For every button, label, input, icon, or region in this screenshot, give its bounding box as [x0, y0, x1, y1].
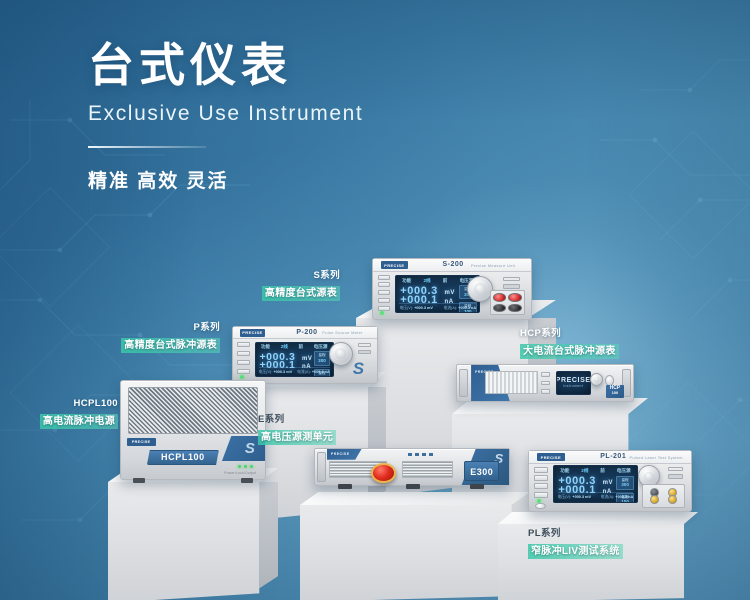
callout-s-series-desc: 高精度台式源表	[262, 286, 340, 301]
tab-front: 前	[443, 278, 448, 284]
tab-voltage-source: 电压源	[314, 344, 328, 350]
pl-series-power-button[interactable]	[535, 503, 546, 510]
hcp-rotary-knob[interactable]	[590, 373, 603, 386]
instrument-p-series[interactable]: PRECISE P-200 Pulse Source Meter 功能 2线 前…	[232, 326, 378, 384]
callout-hcpl100-title: HCPL100	[0, 398, 118, 411]
callout-p-series: P系列 高精度台式脉冲源表	[80, 322, 220, 353]
hcp-side-buttons[interactable]	[541, 372, 550, 394]
s-series-brand-tag: PRECISE	[381, 261, 408, 269]
hcpl100-mesh-grille	[128, 387, 258, 434]
p-series-display[interactable]: 功能 2线 前 电压源 +000.3 mV +000.1 nA 量程 300	[255, 342, 334, 378]
hcp-display-brand: PRECISE	[556, 377, 591, 384]
e300-brand-tag: PRECISE	[329, 451, 352, 457]
p-series-brand-tag: PRECISE	[240, 329, 264, 336]
pl-series-model-subtitle: Pulsed Laser Test System	[629, 455, 682, 460]
tab-function: 功能	[560, 468, 569, 474]
bnc-connector-3[interactable]	[650, 495, 659, 504]
range-chip-voltage: 量程 300	[314, 351, 331, 365]
callout-pl-series-desc: 窄脉冲LIV测试系统	[528, 544, 623, 559]
terminal-black-hi[interactable]	[493, 304, 506, 313]
e300-status-leds	[408, 453, 433, 456]
banner-subtitle: Exclusive Use Instrument	[88, 102, 363, 126]
callout-hcp-series: HCP系列 大电流台式脉冲源表	[520, 328, 648, 359]
instrument-s-series[interactable]: PRECISE S-200 Precise Measure Unit 功能 2线…	[372, 258, 532, 320]
tab-front: 前	[600, 468, 605, 474]
tab-function: 功能	[261, 344, 270, 350]
p-series-display-footer: 电压(V): +000.3 mV 电流(A): +000.3 nA	[259, 367, 330, 375]
terminal-red-lo[interactable]	[508, 293, 521, 302]
hcpl100-logo: S	[245, 440, 255, 457]
callout-hcp-series-title: HCP系列	[520, 328, 648, 341]
e300-foot-1	[338, 484, 352, 489]
instrument-e-series[interactable]: PRECISE S E300	[314, 448, 510, 486]
callout-s-series-title: S系列	[200, 270, 340, 283]
e300-emergency-button[interactable]	[371, 463, 396, 483]
banner-title: 台式仪表	[88, 40, 363, 92]
range-chip-voltage: 量程 300	[616, 476, 634, 490]
s-series-model-text: S-200	[443, 261, 464, 268]
callout-pl-series: PL系列 窄脉冲LIV测试系统	[528, 528, 658, 559]
callout-pl-series-title: PL系列	[528, 528, 658, 541]
instrument-pl-series[interactable]: PRECISE PL-201 Pulsed Laser Test System …	[528, 450, 692, 512]
e300-foot-2	[406, 484, 420, 489]
p-series-logo: S	[353, 359, 364, 379]
header-divider	[88, 146, 206, 148]
s-series-usb-port[interactable]	[503, 277, 520, 281]
hcp-display-subtitle: Instrument	[563, 384, 583, 388]
tab-wire: 2线	[581, 468, 588, 474]
callout-p-series-title: P系列	[80, 322, 220, 335]
tab-wire: 2线	[424, 278, 431, 284]
instrument-hcp-series[interactable]: PRECISE PRECISE Instrument HCP100	[456, 364, 634, 402]
p-series-aux-port[interactable]	[358, 350, 371, 354]
pl-series-brand-tag: PRECISE	[537, 453, 565, 461]
p-series-side-buttons[interactable]	[237, 342, 250, 374]
hcp-rack-ear-left	[459, 369, 468, 398]
pl-series-display[interactable]: 功能 2线 前 电压源 +000.3 mV +000.1 nA 量程 300	[553, 465, 637, 502]
e300-model-plate: E300	[464, 461, 499, 481]
callout-e-series: E系列 高电压源测单元	[258, 414, 370, 445]
pl-series-model-text: PL-201	[600, 453, 626, 460]
s-series-terminal-panel[interactable]	[490, 290, 525, 315]
hcpl100-indicator-leds	[238, 465, 253, 468]
tab-function: 功能	[402, 278, 411, 284]
hcp-display[interactable]: PRECISE Instrument	[556, 371, 591, 395]
banner-tagline: 精准 高效 灵活	[88, 166, 363, 193]
pl-series-side-buttons[interactable]	[534, 467, 549, 498]
e300-foot-3	[470, 484, 484, 489]
callout-hcpl100-desc: 高电流脉冲电源	[40, 414, 118, 429]
tab-wire: 2线	[281, 344, 288, 350]
pedestal-e-series	[300, 492, 530, 600]
banner-stage: 台式仪表 Exclusive Use Instrument 精准 高效 灵活	[0, 0, 750, 600]
pl-series-aux-port[interactable]	[668, 474, 683, 479]
hcpl100-brand-tag: PRECISE	[127, 438, 156, 446]
hcp-model-badge: HCP100	[606, 385, 625, 399]
hcpl100-model-plate: HCPL100	[147, 450, 219, 466]
callout-e-series-title: E系列	[258, 414, 370, 427]
p-series-power-led	[240, 375, 244, 379]
tab-front: 前	[298, 344, 303, 350]
terminal-red-hi[interactable]	[493, 293, 506, 302]
banner-header: 台式仪表 Exclusive Use Instrument 精准 高效 灵活	[88, 40, 363, 193]
e300-vent-right	[402, 461, 452, 478]
s-series-display-footer: 电压(V): +000.3 mV 电流(A): +000.3 nA	[399, 303, 476, 311]
instrument-hcpl100[interactable]: PRECISE S HCPL100 Power/Lock/Output	[120, 380, 266, 480]
callout-s-series: S系列 高精度台式源表	[200, 270, 340, 301]
terminal-black-lo[interactable]	[508, 304, 521, 313]
pl-series-display-footer: 电压(V): +000.3 mV 电流(A): +000.3 nA	[558, 492, 634, 500]
hcpl100-foot-left	[133, 478, 146, 483]
p-series-model-subtitle: Pulse Source Meter	[322, 330, 363, 335]
pl-series-display-tabs: 功能 2线 前 电压源	[554, 468, 636, 475]
tab-voltage-source: 电压源	[617, 468, 631, 474]
p-series-rotary-knob[interactable]	[329, 342, 353, 366]
s-series-side-buttons[interactable]	[378, 275, 391, 311]
e300-rack-ear-left	[317, 452, 326, 482]
hcpl100-model-text: HCPL100	[161, 452, 205, 462]
callout-e-series-desc: 高电压源测单元	[258, 430, 336, 445]
s-series-aux-port[interactable]	[503, 284, 520, 289]
s-series-power-led	[380, 311, 384, 315]
s-series-model-subtitle: Precise Measure Unit	[471, 263, 515, 268]
hcpl100-foot-right	[241, 478, 254, 483]
e300-model-text: E300	[470, 467, 493, 477]
p-series-display-tabs: 功能 2线 前 电压源	[256, 344, 333, 351]
p-series-usb-port[interactable]	[358, 343, 371, 347]
p-series-model-text: P-200	[296, 329, 317, 336]
pl-series-usb-port[interactable]	[668, 467, 683, 472]
hcpl100-indicator-caption: Power/Lock/Output	[224, 471, 256, 475]
pl-series-connector-panel[interactable]	[642, 484, 684, 508]
callout-hcp-series-desc: 大电流台式脉冲源表	[520, 344, 619, 359]
bnc-connector-4[interactable]	[668, 495, 677, 504]
hcp-vent-grille	[485, 371, 538, 393]
pedestal-hcpl100	[108, 468, 278, 600]
callout-hcpl100: HCPL100 高电流脉冲电源	[0, 398, 118, 429]
callout-p-series-desc: 高精度台式脉冲源表	[121, 338, 220, 353]
